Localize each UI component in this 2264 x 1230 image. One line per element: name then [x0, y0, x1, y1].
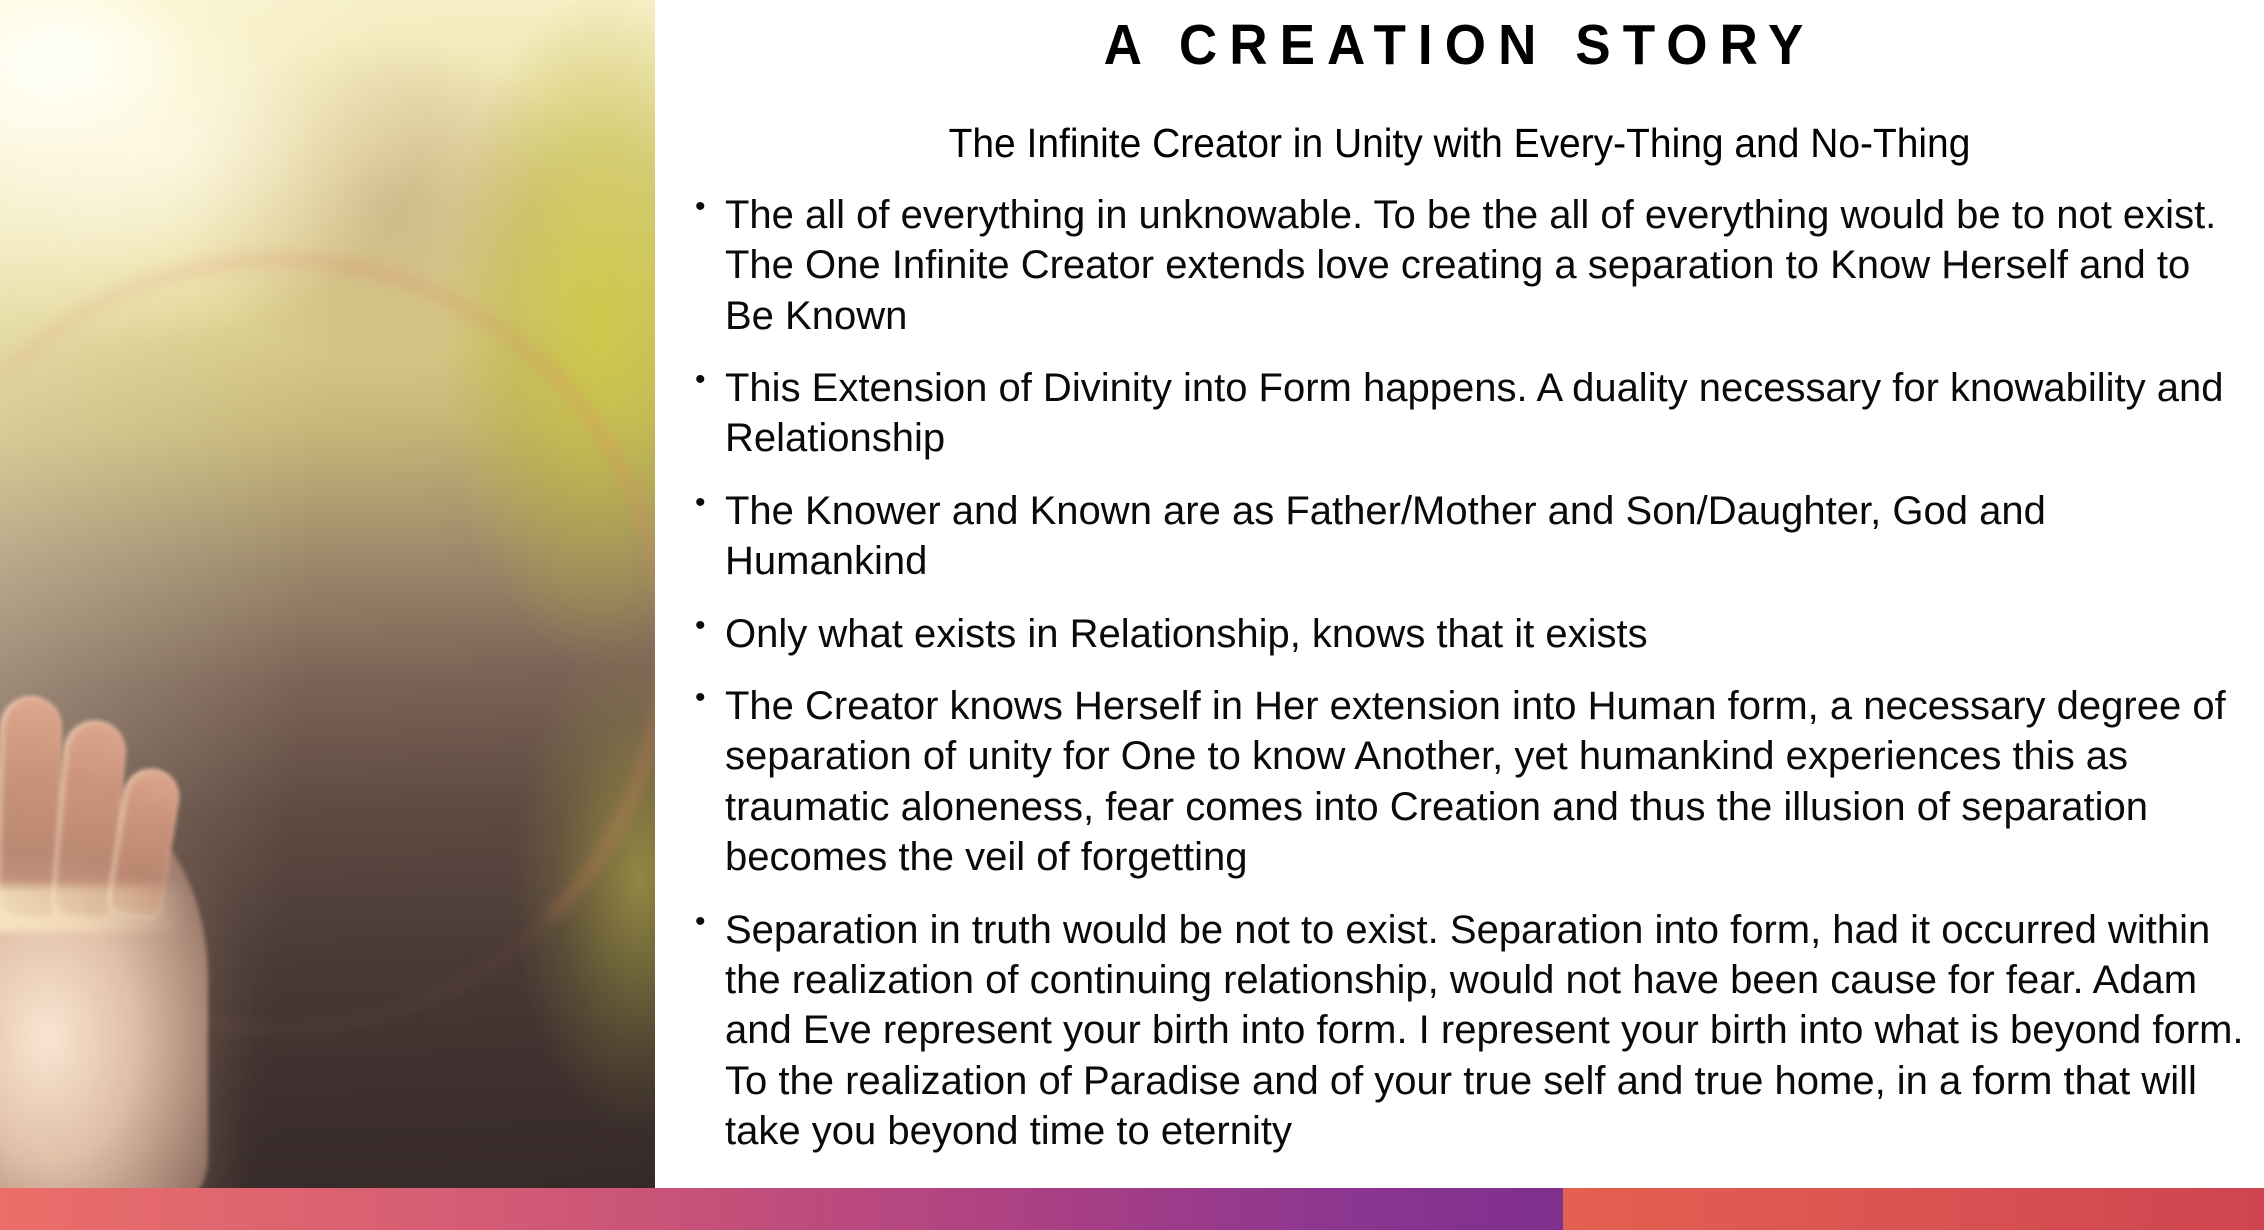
bar-segment-gradient: [0, 1188, 1563, 1230]
page-title: A CREATION STORY: [711, 0, 2207, 77]
bottom-accent-bar: [0, 1188, 2264, 1230]
photo-vignette: [0, 0, 655, 1188]
list-item: The all of everything in unknowable. To …: [695, 190, 2248, 341]
list-item: Separation in truth would be not to exis…: [695, 905, 2248, 1157]
slide-subtitle: The Infinite Creator in Unity with Every…: [695, 77, 2224, 168]
list-item: The Creator knows Herself in Her extensi…: [695, 681, 2248, 883]
sunset-hand-photo: [0, 0, 655, 1188]
bar-segment-red: [1563, 1188, 2264, 1230]
list-item: The Knower and Known are as Father/Mothe…: [695, 486, 2248, 587]
slide-content: A CREATION STORY The Infinite Creator in…: [655, 0, 2264, 1188]
bullet-list: The all of everything in unknowable. To …: [655, 168, 2264, 1157]
list-item: Only what exists in Relationship, knows …: [695, 609, 2248, 659]
slide: A CREATION STORY The Infinite Creator in…: [0, 0, 2264, 1230]
list-item: This Extension of Divinity into Form hap…: [695, 363, 2248, 464]
